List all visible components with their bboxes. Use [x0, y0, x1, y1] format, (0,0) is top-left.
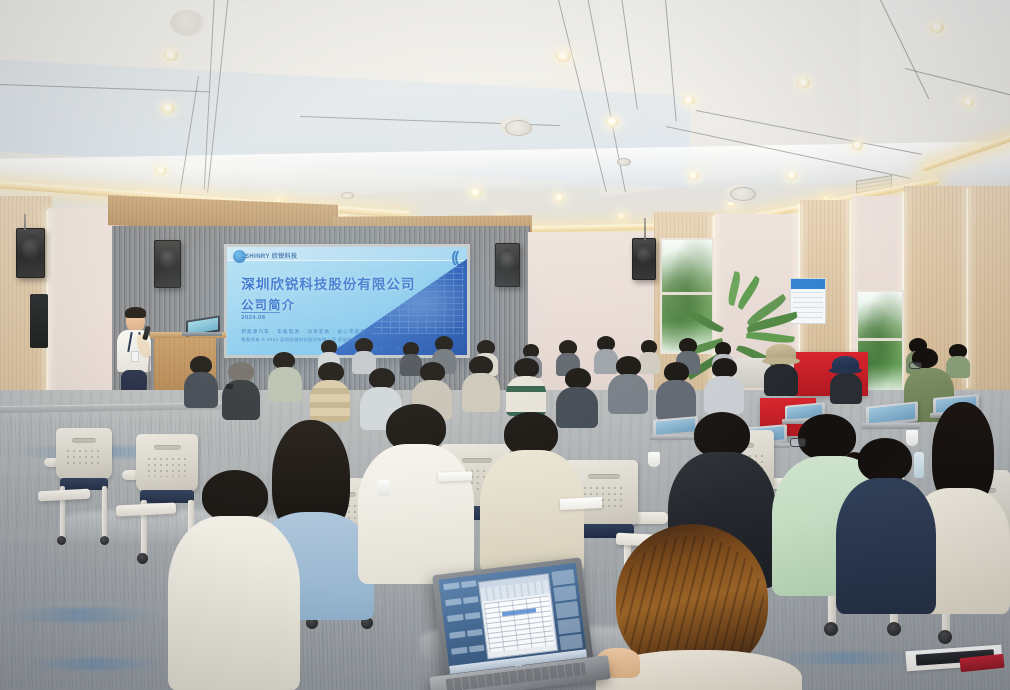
presenter-id-badge	[131, 351, 139, 362]
window-left	[660, 238, 714, 354]
ceiling-downlight	[683, 96, 695, 105]
presentation-slide: SHINRY 欣锐科技 (( 深圳欣锐科技股份有限公司 公司简介 2024.08…	[227, 247, 467, 355]
audience-member	[310, 362, 350, 422]
chair-grab-handle	[72, 438, 96, 443]
desktop-icon[interactable]	[465, 612, 481, 620]
wristwatch	[226, 384, 233, 389]
training-chair	[44, 428, 116, 546]
desktop-icon[interactable]	[556, 601, 580, 618]
window-mullion	[660, 292, 714, 295]
ceiling-downlight	[797, 78, 810, 88]
desktop-icon[interactable]	[445, 598, 461, 606]
ceiling-speaker-grille	[730, 187, 756, 201]
desktop-icon[interactable]	[552, 569, 576, 586]
paper-handout	[438, 471, 472, 481]
audience-shirt-striped	[310, 380, 350, 422]
ceiling-downlight	[155, 166, 167, 175]
slide-corner-mark: ((	[451, 249, 457, 266]
audience-hair	[318, 362, 344, 382]
desktop-icon[interactable]	[449, 631, 465, 639]
chair-caster	[824, 622, 838, 636]
chair-caster	[100, 536, 109, 545]
eyeglasses-icon	[790, 438, 806, 447]
audience-shirt	[830, 373, 862, 404]
paper-handout	[560, 497, 603, 510]
carpet-blue-accent	[24, 658, 164, 670]
desktop-icon[interactable]	[560, 634, 584, 651]
desktop-icon[interactable]	[463, 596, 479, 604]
wall-speaker-center-right	[495, 243, 520, 287]
ceiling-downlight	[606, 117, 619, 127]
audience-shirt-offwhite	[168, 516, 300, 690]
slide-date: 2024.08	[241, 315, 265, 321]
podium-laptop-base	[182, 332, 222, 336]
slide-title: 深圳欣锐科技股份有限公司	[241, 273, 415, 293]
ceiling-downlight	[930, 22, 944, 33]
audience-shirt-navy	[836, 478, 936, 614]
water-bottle	[914, 452, 924, 478]
audience-hair	[369, 368, 395, 389]
audience-hair	[664, 362, 689, 382]
data-table-grid[interactable]	[483, 595, 554, 653]
window-mullion	[856, 338, 904, 341]
audience-member-navy-cap	[828, 356, 864, 404]
desktop-icon[interactable]	[447, 615, 463, 623]
conference-room-photo: SHINRY 欣锐科技 (( 深圳欣锐科技股份有限公司 公司简介 2024.08…	[0, 0, 1010, 690]
audience-hair	[514, 358, 539, 378]
audience-shirt	[184, 372, 218, 408]
audience-member	[222, 362, 260, 420]
ceiling-downlight	[852, 141, 863, 150]
chair-grab-handle	[154, 445, 181, 450]
audience-member	[704, 358, 744, 414]
ceiling-downlight-off	[170, 10, 204, 36]
foreground-laptop	[430, 566, 620, 690]
audience-member-lightblue-front	[168, 470, 300, 690]
paper-cup	[906, 430, 918, 446]
wall-speaker-far-left	[16, 228, 45, 278]
slide-divider-rule	[241, 312, 279, 313]
audience-hair	[712, 358, 737, 378]
audience-member-white-tee	[358, 404, 474, 584]
chair-caster	[57, 536, 66, 545]
ceiling-downlight	[470, 188, 482, 197]
palm-frond	[746, 330, 795, 345]
audience-shirt	[608, 374, 648, 414]
slide-meta-line-1: 新能源汽车 · 车载电源 · 功率变换 · 核心零部件	[241, 329, 366, 335]
audience-shirt-beige	[480, 450, 584, 574]
carpet-blue-accent	[0, 608, 160, 622]
desktop-icon[interactable]	[451, 647, 467, 655]
ceiling-downlight	[554, 194, 564, 202]
audience-hair	[565, 368, 591, 389]
audience-hair	[420, 362, 445, 382]
wall-speaker-left	[154, 240, 181, 288]
ceiling-downlight	[164, 50, 178, 61]
chair-tablet-arm	[38, 489, 90, 502]
desktop-icon[interactable]	[554, 585, 578, 602]
desktop-icon[interactable]	[469, 645, 485, 653]
desktop-icon[interactable]	[461, 580, 477, 588]
audience-hair	[202, 470, 268, 522]
audience-shirt	[268, 367, 302, 402]
desktop-icon[interactable]	[558, 618, 582, 635]
slide-meta-line-2: 版权所有 © 2024 深圳欣锐科技股份有限公司 保留所有权利	[241, 337, 366, 343]
chair-caster	[887, 622, 901, 636]
slide-subtitle: 公司简介	[241, 296, 295, 313]
desktop-icon[interactable]	[443, 582, 459, 590]
ceiling-downlight	[962, 98, 974, 107]
audience-member	[608, 356, 648, 414]
audience-hair	[858, 438, 912, 482]
smoke-detector	[341, 192, 354, 199]
wall-speaker-right	[632, 238, 656, 280]
audience-member-beige-polo	[480, 412, 584, 574]
chair-caster	[938, 630, 952, 644]
chair-leg	[102, 486, 107, 538]
audience-shirt	[764, 364, 798, 396]
presenter-hair	[125, 307, 146, 318]
audience-shirt-polo	[506, 376, 546, 416]
ceiling-downlight	[556, 50, 571, 62]
desktop-icon[interactable]	[467, 629, 483, 637]
ceiling-downlight	[161, 103, 175, 114]
audience-member	[506, 358, 546, 416]
audience-member	[268, 352, 302, 402]
ceiling-speaker-grille	[505, 120, 532, 136]
chair-grab-handle	[588, 474, 620, 479]
ceiling-downlight	[617, 213, 626, 220]
spreadsheet-window[interactable]	[478, 573, 559, 659]
laptop-screen	[439, 563, 588, 674]
left-wall-display-edge	[30, 294, 48, 348]
audience-member-bucket-hat	[762, 344, 800, 396]
audience-hair-greying	[228, 362, 254, 382]
company-logo-text: SHINRY 欣锐科技	[245, 251, 297, 260]
paper-cup	[377, 480, 390, 497]
paper-cup	[648, 452, 660, 467]
audience-member	[184, 356, 218, 408]
chair-caster	[137, 553, 148, 564]
audience-shirt	[704, 376, 744, 414]
chair-backrest	[56, 428, 112, 480]
ceiling-downlight	[688, 172, 699, 180]
ceiling-downlight	[787, 172, 797, 180]
smoke-detector	[617, 158, 631, 166]
speaker-cable	[644, 218, 646, 240]
speaker-cable	[24, 214, 26, 230]
audience-hair	[616, 356, 641, 376]
audience-shirt-white	[358, 444, 474, 584]
